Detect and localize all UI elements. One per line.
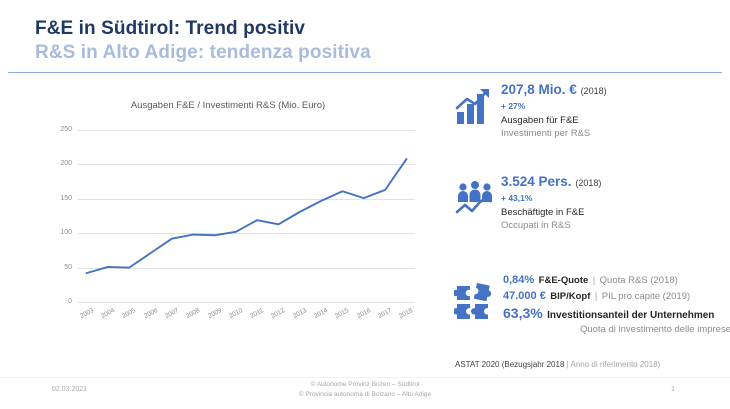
stat-label-de-employees: Beschäftigte in F&E (501, 206, 730, 219)
indicator-label-de: BIP/Kopf (550, 291, 590, 302)
chart-title: Ausgaben F&E / Investimenti R&S (Mio. Eu… (18, 100, 438, 111)
chart-gridline (78, 302, 415, 303)
chart-x-tick-label: 2015 (334, 307, 350, 320)
stat-value-text: 3.524 Pers. (501, 174, 572, 189)
chart-y-tick-label: 0 (32, 298, 72, 305)
chart-x-tick-label: 2018 (398, 307, 414, 320)
chart-x-tick-label: 2011 (249, 307, 265, 320)
stat-block-indicators: 0,84% F&E-Quote | Quota R&S (2018) 47.00… (455, 272, 730, 342)
chart-x-tick-label: 2003 (79, 307, 95, 320)
stat-body-employees: 3.524 Pers. (2018) + 43,1% Beschäftigte … (501, 174, 730, 232)
indicator-line-rd-quota: 0,84% F&E-Quote | Quota R&S (2018) (503, 272, 730, 288)
indicator-line-business-share: 63,3% Investitionsanteil der Unternehmen (503, 306, 730, 323)
page-title-it: R&S in Alto Adige: tendenza positiva (35, 42, 371, 64)
chart-y-tick-label: 50 (32, 264, 72, 271)
chart-panel: Ausgaben F&E / Investimenti R&S (Mio. Eu… (18, 82, 438, 337)
chart-x-axis: 2003200420052006200720082009201020112012… (78, 306, 415, 326)
indicator-value: 0,84% (503, 274, 534, 286)
chart-y-tick-label: 100 (32, 229, 72, 236)
chart-x-tick-label: 2006 (142, 307, 158, 320)
indicator-label-it: Quota R&S (2018) (600, 275, 678, 286)
indicator-label-de: F&E-Quote (539, 275, 589, 286)
indicator-line-gdp: 47.000 € BIP/Kopf | PIL pro capite (2019… (503, 288, 730, 304)
chart-y-tick-label: 200 (32, 160, 72, 167)
stat-label-it-expenditure: Investimenti per R&S (501, 127, 730, 140)
indicator-label-it-trailing: Quota di investimento delle imprese (503, 323, 730, 337)
stat-block-employees: 3.524 Pers. (2018) + 43,1% Beschäftigte … (455, 174, 730, 264)
slide-header: F&E in Südtirol: Trend positiv R&S in Al… (0, 0, 730, 72)
chart-x-tick-label: 2012 (270, 307, 286, 320)
chart-series-line (87, 159, 407, 273)
chart-y-tick-label: 150 (32, 195, 72, 202)
footer-copyright-de: © Autonome Provinz Bozen – Südtirol (0, 380, 730, 390)
chart-x-tick-label: 2005 (121, 307, 137, 320)
people-growth-icon (455, 178, 497, 220)
stat-body-indicators: 0,84% F&E-Quote | Quota R&S (2018) 47.00… (503, 272, 730, 337)
indicator-value: 47.000 € (503, 290, 546, 302)
stat-block-expenditure: 207,8 Mio. € (2018) + 27% Ausgaben für F… (455, 82, 730, 164)
stat-label-it-employees: Occupati in R&S (501, 219, 730, 232)
stats-panel: 207,8 Mio. € (2018) + 27% Ausgaben für F… (455, 82, 730, 362)
source-note: ASTAT 2020 (Bezugsjahr 2018 | Anno di ri… (455, 360, 730, 369)
slide: F&E in Südtirol: Trend positiv R&S in Al… (0, 0, 730, 409)
footer-divider (0, 377, 730, 378)
chart-line-series (78, 130, 415, 302)
chart-x-tick-label: 2017 (377, 307, 393, 320)
indicator-separator: | (595, 291, 597, 302)
source-it: Anno di riferimento 2018) (570, 360, 660, 369)
puzzle-pieces-icon (454, 280, 500, 326)
chart-x-tick-label: 2013 (292, 307, 308, 320)
stat-delta-expenditure: + 27% (501, 100, 730, 112)
footer-copyright: © Autonome Provinz Bozen – Südtirol © Pr… (0, 380, 730, 399)
stat-body-expenditure: 207,8 Mio. € (2018) + 27% Ausgaben für F… (501, 82, 730, 140)
stat-value-expenditure: 207,8 Mio. € (2018) (501, 82, 730, 99)
bar-chart-growth-icon (455, 86, 497, 128)
chart-x-tick-label: 2010 (228, 307, 244, 320)
page-title-de: F&E in Südtirol: Trend positiv (35, 18, 305, 40)
chart-y-tick-label: 250 (32, 126, 72, 133)
stat-value-employees: 3.524 Pers. (2018) (501, 174, 730, 191)
stat-value-text: 207,8 Mio. € (501, 82, 577, 97)
footer-page-number: 1 (671, 386, 675, 393)
source-de: ASTAT 2020 (Bezugsjahr 2018 (455, 360, 567, 369)
stat-year: (2018) (575, 178, 601, 188)
chart-x-tick-label: 2016 (356, 307, 372, 320)
stat-label-de-expenditure: Ausgaben für F&E (501, 114, 730, 127)
chart-x-tick-label: 2004 (100, 307, 116, 320)
stat-delta-employees: + 43,1% (501, 192, 730, 204)
stat-year: (2018) (581, 86, 607, 96)
chart-x-tick-label: 2014 (313, 307, 329, 320)
indicator-value: 63,3% (503, 305, 543, 321)
indicator-label-de: Investitionsanteil der Unternehmen (547, 310, 714, 321)
chart-x-tick-label: 2008 (185, 307, 201, 320)
footer-copyright-it: © Provincia autonoma di Bolzano – Alto A… (0, 390, 730, 400)
chart-x-tick-label: 2007 (164, 307, 180, 320)
indicator-label-it: PIL pro capite (2019) (602, 291, 690, 302)
header-divider (8, 72, 722, 73)
indicator-separator: | (593, 275, 595, 286)
chart-x-tick-label: 2009 (206, 307, 222, 320)
